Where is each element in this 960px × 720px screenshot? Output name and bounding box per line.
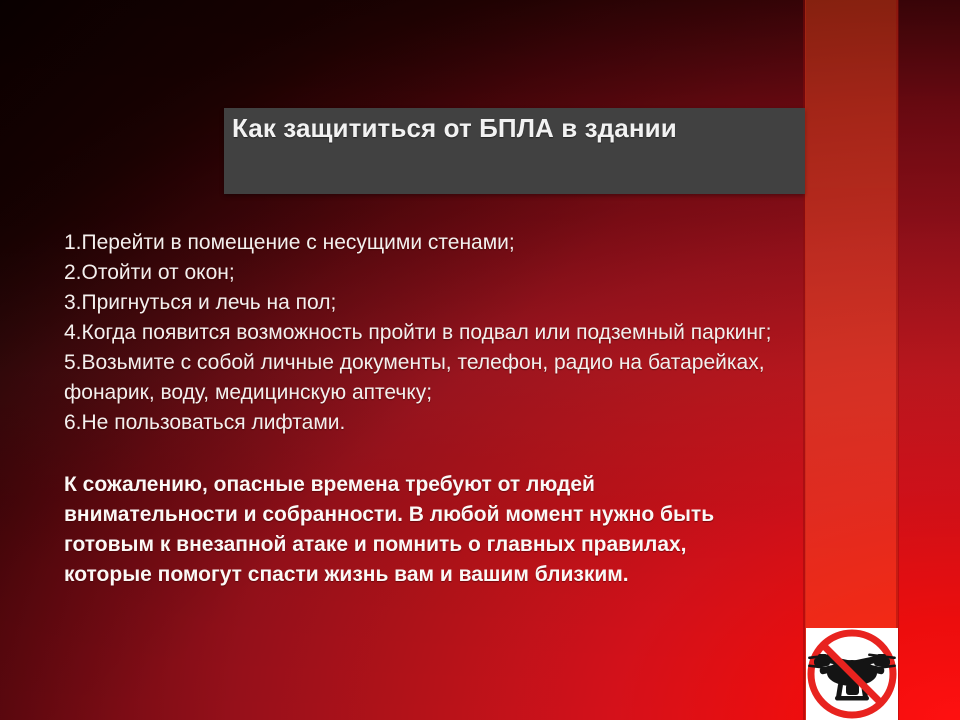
body-content: 1.Перейти в помещение с несущими стенами… [64,228,824,611]
list-item: 3.Пригнуться и лечь на пол; [64,288,804,318]
list-item: 5.Возьмите с собой личные документы, тел… [64,348,804,408]
list-item: 4.Когда появится возможность пройти в по… [64,318,804,348]
list-item: 1.Перейти в помещение с несущими стенами… [64,228,804,258]
closing-paragraph: К сожалению, опасные времена требуют от … [64,470,719,590]
title-bar: Как защититься от БПЛА в здании [224,108,805,194]
list-item: 6.Не пользоваться лифтами. [64,408,804,438]
no-drone-icon [806,628,898,720]
safety-steps-list: 1.Перейти в помещение с несущими стенами… [64,228,824,438]
page-title: Как защититься от БПЛА в здании [232,113,799,144]
slide: Как защититься от БПЛА в здании 1.Перейт… [0,0,960,720]
list-item: 2.Отойти от окон; [64,258,804,288]
accent-band-right-edge [896,0,899,720]
